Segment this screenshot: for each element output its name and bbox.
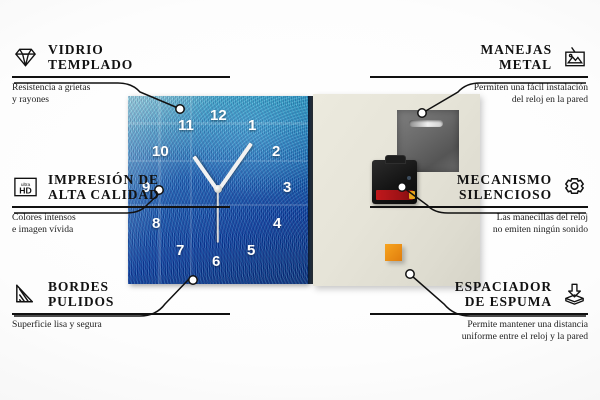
feature-mecanismo-silencioso[interactable]: MECANISMO SILENCIOSO Las manecillas del … [370, 172, 588, 236]
down-arrow-stack-icon [561, 282, 588, 306]
feature-divider [370, 206, 588, 208]
clock-numeral-3: 3 [283, 180, 291, 195]
svg-text:HD: HD [19, 186, 32, 196]
feature-title-line2: DE ESPUMA [455, 294, 552, 309]
feature-title-line2: METAL [480, 57, 552, 72]
feature-desc-line1: Las manecillas del reloj [370, 212, 588, 224]
feature-title-line2: SILENCIOSO [457, 187, 552, 202]
clock-numeral-5: 5 [247, 243, 255, 258]
feature-divider [12, 206, 230, 208]
ultra-hd-icon: ultra HD [12, 175, 39, 199]
framed-picture-hanging-icon [561, 45, 588, 69]
feature-desc-line1: Permiten una fácil instalación [370, 82, 588, 94]
clock-numeral-10: 10 [152, 144, 169, 159]
clock-numeral-1: 1 [248, 118, 256, 133]
feature-desc-line2: e imagen vívida [12, 224, 230, 236]
feature-title-line2: ALTA CALIDAD [48, 187, 160, 202]
feature-title-line1: MECANISMO [457, 172, 552, 187]
feature-desc-line2: del reloj en la pared [370, 94, 588, 106]
clock-numeral-7: 7 [176, 243, 184, 258]
feature-title-line1: ESPACIADOR [455, 279, 552, 294]
clock-numeral-11: 11 [178, 118, 194, 133]
feature-title-line1: BORDES [48, 279, 114, 294]
diamond-icon [12, 45, 39, 69]
mechanism-hook-tab [385, 155, 406, 164]
feature-bordes-pulidos[interactable]: BORDES PULIDOS Superficie lisa y segura [12, 279, 230, 331]
clock-numeral-4: 4 [273, 216, 281, 231]
feature-desc-line1: Permite mantener una distancia [370, 319, 588, 331]
infographic-canvas: 12 1 2 3 4 5 6 7 8 9 10 11 [0, 0, 600, 400]
hanger-keyhole-slot [409, 120, 443, 127]
foam-spacer [385, 244, 402, 261]
feature-espaciador-espuma[interactable]: ESPACIADOR DE ESPUMA Permite mantener un… [370, 279, 588, 343]
feature-manejas-metal[interactable]: MANEJAS METAL Permiten una fácil instala… [370, 42, 588, 106]
feature-desc-line1: Colores intensos [12, 212, 230, 224]
feature-divider [370, 313, 588, 315]
clock-numeral-2: 2 [272, 144, 280, 159]
feature-title-line2: TEMPLADO [48, 57, 133, 72]
feature-desc-line1: Superficie lisa y segura [12, 319, 230, 331]
feature-desc-line2: no emiten ningún sonido [370, 224, 588, 236]
feature-divider [370, 76, 588, 78]
gear-icon [561, 175, 588, 199]
clock-numeral-6: 6 [212, 254, 220, 269]
feature-desc-line2: uniforme entre el reloj y la pared [370, 331, 588, 343]
clock-numeral-12: 12 [210, 108, 227, 123]
feature-title-line2: PULIDOS [48, 294, 114, 309]
feature-impresion-alta-calidad[interactable]: ultra HD IMPRESIÓN DE ALTA CALIDAD Color… [12, 172, 230, 236]
feature-title-line1: IMPRESIÓN DE [48, 172, 160, 187]
feature-divider [12, 313, 230, 315]
feature-divider [12, 76, 230, 78]
feature-title-line1: VIDRIO [48, 42, 133, 57]
feature-vidrio-templado[interactable]: VIDRIO TEMPLADO Resistencia a grietas y … [12, 42, 230, 106]
polished-edge-icon [12, 282, 39, 306]
feature-title-line1: MANEJAS [480, 42, 552, 57]
feature-desc-line1: Resistencia a grietas [12, 82, 230, 94]
grid-band [128, 160, 308, 162]
feature-desc-line2: y rayones [12, 94, 230, 106]
